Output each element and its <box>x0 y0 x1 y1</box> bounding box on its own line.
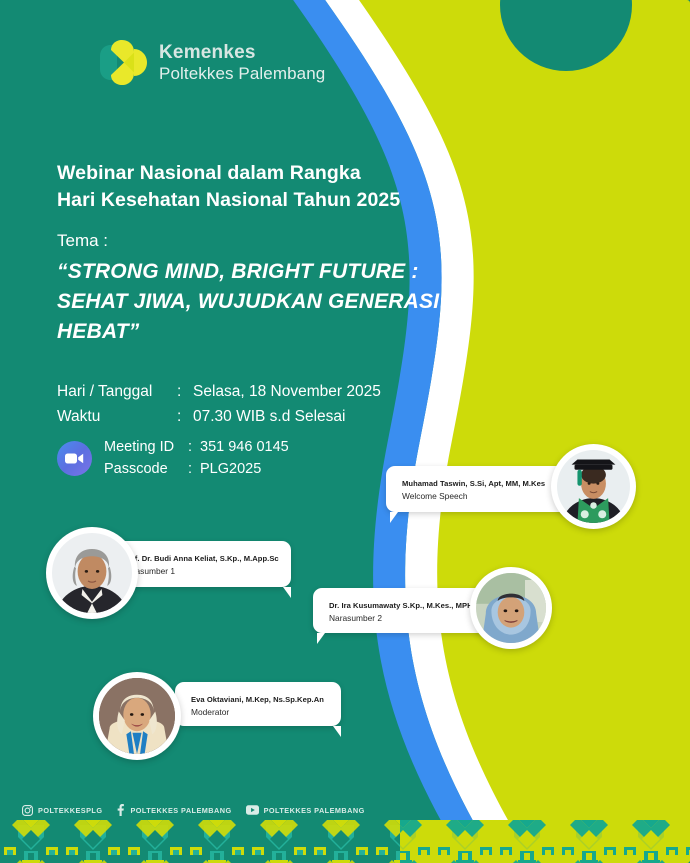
bubble-tail <box>317 633 325 644</box>
logo-line-1: Kemenkes <box>159 42 325 63</box>
bubble-tail <box>390 512 398 523</box>
speaker-card-narasumber-1: Prof. Dr. Budi Anna Keliat, S.Kp., M.App… <box>46 527 291 623</box>
theme-label: Tema : <box>57 231 108 251</box>
speaker-card-moderator: Eva Oktaviani, M.Kep, Ns.Sp.Kep.An Moder… <box>93 672 341 762</box>
schedule-row: Waktu : 07.30 WIB s.d Selesai <box>57 404 381 429</box>
social-media-bar: POLTEKKESPLG POLTEKKES PALEMBANG POLTEKK… <box>22 804 365 816</box>
youtube-icon <box>246 805 259 815</box>
speaker-name: Dr. Ira Kusumawaty S.Kp., M.Kes., MPH., … <box>329 601 477 611</box>
instagram-handle: POLTEKKESPLG <box>38 806 102 815</box>
speaker-card-welcome-speech: Muhamad Taswin, S.Si, Apt, MM, M.Kes Wel… <box>386 466 636 570</box>
zoom-passcode-value: PLG2025 <box>200 458 289 480</box>
logo-wordmark: Kemenkes Poltekkes Palembang <box>159 42 325 82</box>
bubble-tail <box>283 587 291 598</box>
speaker-role: Welcome Speech <box>402 491 556 502</box>
theme-text: “STRONG MIND, BRIGHT FUTURE : SEHAT JIWA… <box>57 257 439 346</box>
youtube-handle: POLTEKKES PALEMBANG <box>264 806 365 815</box>
kemenkes-logo: Kemenkes Poltekkes Palembang <box>98 40 325 85</box>
zoom-meeting-block: Meeting ID : 351 946 0145 Passcode : PLG… <box>57 436 289 481</box>
schedule-key: Hari / Tanggal <box>57 379 177 404</box>
zoom-meeting-id-value: 351 946 0145 <box>200 436 289 458</box>
poster-headline: Webinar Nasional dalam Rangka Hari Keseh… <box>57 160 400 214</box>
logo-line-2: Poltekkes Palembang <box>159 64 325 83</box>
headline-line-1: Webinar Nasional dalam Rangka <box>57 160 400 187</box>
speaker-bubble: Muhamad Taswin, S.Si, Apt, MM, M.Kes Wel… <box>386 466 572 512</box>
speaker-role: Moderator <box>191 707 325 718</box>
webinar-poster: Kemenkes Poltekkes Palembang Webinar Nas… <box>0 0 690 863</box>
zoom-key: Meeting ID <box>104 436 188 458</box>
instagram-icon <box>22 805 33 816</box>
speaker-bubble: Dr. Ira Kusumawaty S.Kp., M.Kes., MPH., … <box>313 588 493 633</box>
facebook-icon <box>116 804 125 816</box>
speaker-bubble: Eva Oktaviani, M.Kep, Ns.Sp.Kep.An Moder… <box>175 682 341 726</box>
zoom-row: Passcode : PLG2025 <box>104 458 289 480</box>
zoom-video-camera-icon <box>57 441 92 476</box>
speaker-name: Muhamad Taswin, S.Si, Apt, MM, M.Kes <box>402 479 556 489</box>
speaker-photo <box>470 567 552 649</box>
zoom-key: Passcode <box>104 458 188 480</box>
kemenkes-clover-logo-icon <box>98 40 150 85</box>
zoom-separator: : <box>188 458 200 480</box>
bubble-tail <box>333 726 341 737</box>
schedule-separator: : <box>177 404 193 429</box>
speaker-name: Eva Oktaviani, M.Kep, Ns.Sp.Kep.An <box>191 695 325 705</box>
speaker-photo <box>551 444 636 529</box>
schedule-separator: : <box>177 379 193 404</box>
schedule-block: Hari / Tanggal : Selasa, 18 November 202… <box>57 379 381 429</box>
social-instagram[interactable]: POLTEKKESPLG <box>22 805 102 816</box>
speaker-card-narasumber-2: Dr. Ira Kusumawaty S.Kp., M.Kes., MPH., … <box>313 588 548 680</box>
speaker-photo <box>93 672 181 760</box>
zoom-separator: : <box>188 436 200 458</box>
schedule-key: Waktu <box>57 404 177 429</box>
schedule-value: Selasa, 18 November 2025 <box>193 379 381 404</box>
theme-line-2: SEHAT JIWA, WUJUDKAN GENERASI <box>57 287 439 317</box>
headline-line-2: Hari Kesehatan Nasional Tahun 2025 <box>57 187 400 214</box>
zoom-credentials: Meeting ID : 351 946 0145 Passcode : PLG… <box>104 436 289 481</box>
schedule-value: 07.30 WIB s.d Selesai <box>193 404 381 429</box>
speaker-name: Prof. Dr. Budi Anna Keliat, S.Kp., M.App… <box>122 554 275 564</box>
zoom-row: Meeting ID : 351 946 0145 <box>104 436 289 458</box>
theme-line-1: “STRONG MIND, BRIGHT FUTURE : <box>57 257 439 287</box>
social-facebook[interactable]: POLTEKKES PALEMBANG <box>116 804 231 816</box>
speaker-role: Narasumber 1 <box>122 566 275 577</box>
theme-line-3: HEBAT” <box>57 317 439 347</box>
schedule-row: Hari / Tanggal : Selasa, 18 November 202… <box>57 379 381 404</box>
speaker-photo <box>46 527 138 619</box>
social-youtube[interactable]: POLTEKKES PALEMBANG <box>246 805 365 815</box>
facebook-handle: POLTEKKES PALEMBANG <box>130 806 231 815</box>
speaker-role: Narasumber 2 <box>329 613 477 624</box>
